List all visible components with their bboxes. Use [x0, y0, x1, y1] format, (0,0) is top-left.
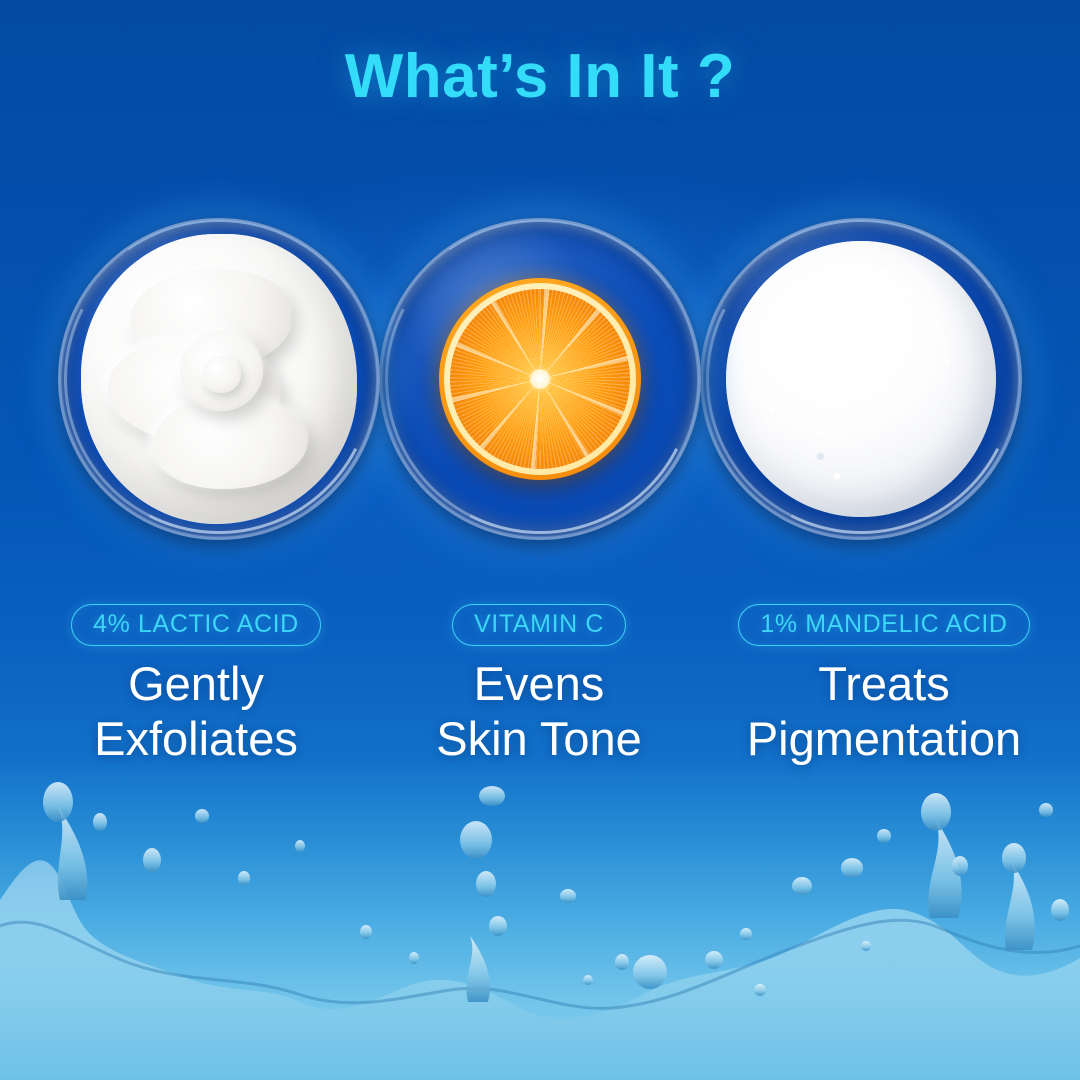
water-spire	[467, 936, 490, 1002]
powder-speck	[791, 324, 796, 329]
ingredient-label-row: 4% LACTIC ACID Gently Exfoliates VITAMIN…	[0, 604, 1080, 804]
orange-core	[530, 369, 550, 389]
benefit-text-mandelic-acid: Treats Pigmentation	[712, 657, 1056, 766]
petri-dish-lactic-acid	[58, 218, 380, 540]
page-title: What’s In It ?	[0, 44, 1080, 109]
ingredient-pill-mandelic-acid[interactable]: 1% MANDELIC ACID	[738, 604, 1029, 646]
petri-dish-mandelic-acid	[700, 218, 1022, 540]
water-crest	[0, 920, 1080, 1008]
cream-content	[81, 234, 358, 524]
benefit-text-vitamin-c: Evens Skin Tone	[368, 657, 710, 766]
ingredient-pill-lactic-acid[interactable]: 4% LACTIC ACID	[71, 604, 321, 646]
water-spire	[928, 820, 961, 918]
powder-speck	[815, 429, 820, 434]
powder-speck	[769, 407, 775, 413]
cream-swirl	[153, 396, 308, 489]
powder-content	[726, 241, 996, 518]
ingredient-vitamin-c: VITAMIN C Evens Skin Tone	[368, 604, 710, 766]
glass-dish-icon	[58, 218, 380, 540]
powder-grains	[726, 241, 996, 518]
petri-dish-vitamin-c	[379, 218, 701, 540]
water-wave	[0, 860, 1080, 1080]
ingredients-infographic: What’s In It ?	[0, 0, 1080, 1080]
glass-dish-icon	[379, 218, 701, 540]
water-spire	[58, 806, 87, 900]
water-spire	[1005, 862, 1035, 950]
dish-row	[0, 218, 1080, 558]
ingredient-mandelic-acid: 1% MANDELIC ACID Treats Pigmentation	[712, 604, 1056, 766]
ingredient-lactic-acid: 4% LACTIC ACID Gently Exfoliates	[26, 604, 366, 766]
benefit-text-lactic-acid: Gently Exfoliates	[26, 657, 366, 766]
ingredient-pill-vitamin-c[interactable]: VITAMIN C	[452, 604, 626, 646]
water-droplets	[43, 782, 1069, 996]
orange-slice-icon	[439, 278, 641, 480]
glass-dish-icon	[700, 218, 1022, 540]
